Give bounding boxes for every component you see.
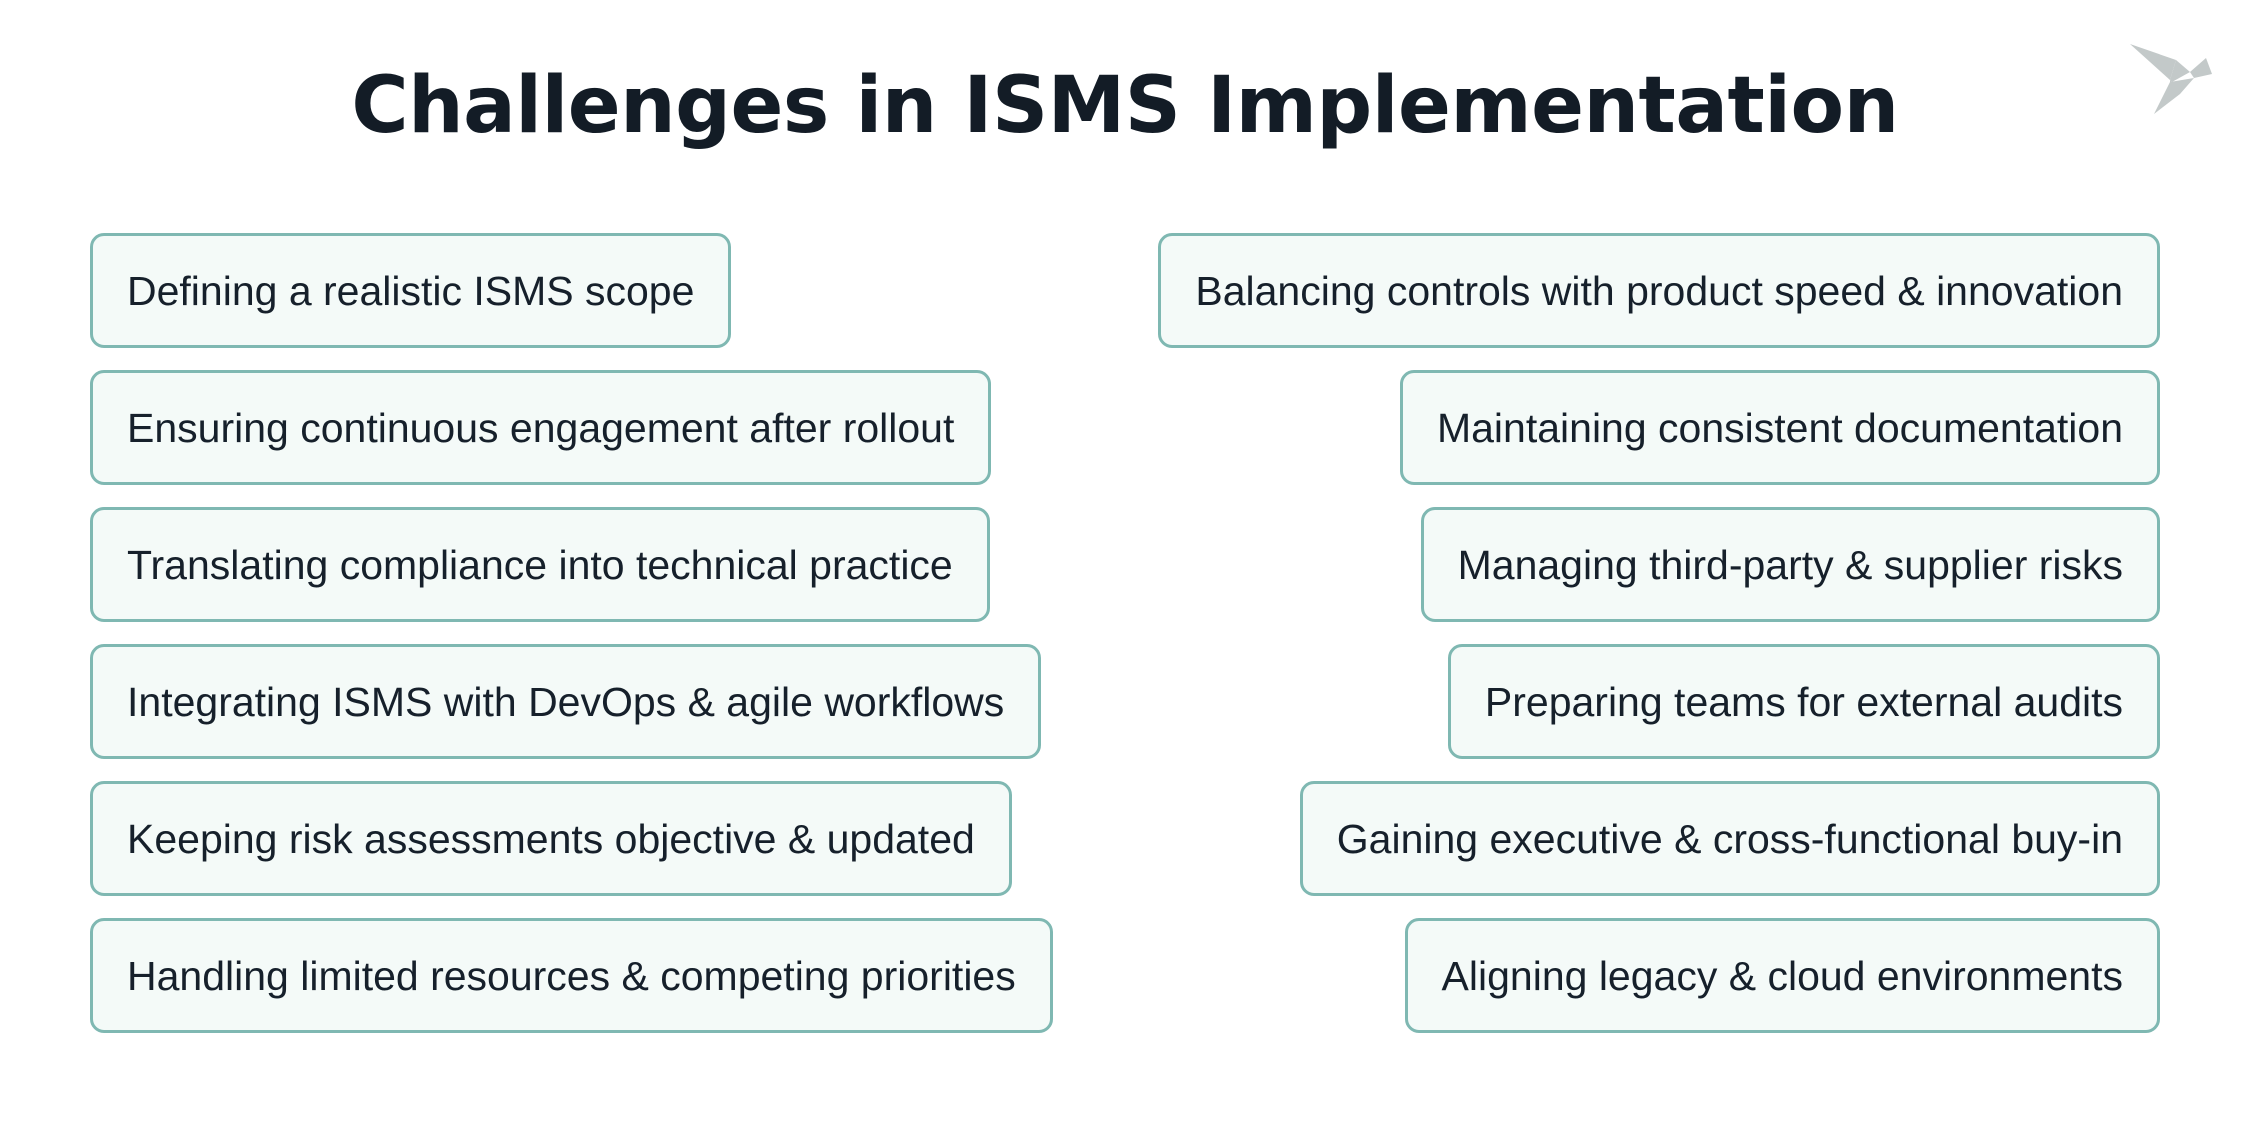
challenge-card[interactable]: Translating compliance into technical pr… <box>90 507 990 622</box>
challenge-card[interactable]: Ensuring continuous engagement after rol… <box>90 370 991 485</box>
challenge-card[interactable]: Preparing teams for external audits <box>1448 644 2160 759</box>
challenge-card[interactable]: Balancing controls with product speed & … <box>1158 233 2160 348</box>
challenge-card[interactable]: Managing third-party & supplier risks <box>1421 507 2160 622</box>
challenge-row: Handling limited resources & competing p… <box>90 918 2160 1033</box>
challenge-card-label: Gaining executive & cross-functional buy… <box>1337 815 2123 863</box>
challenge-row: Ensuring continuous engagement after rol… <box>90 370 2160 485</box>
challenge-card-label: Balancing controls with product speed & … <box>1195 267 2123 315</box>
challenge-row: Translating compliance into technical pr… <box>90 507 2160 622</box>
challenge-card-label: Aligning legacy & cloud environments <box>1442 952 2123 1000</box>
challenge-row: Keeping risk assessments objective & upd… <box>90 781 2160 896</box>
challenge-card-label: Translating compliance into technical pr… <box>127 541 953 589</box>
challenge-row: Defining a realistic ISMS scope Balancin… <box>90 233 2160 348</box>
challenge-card[interactable]: Handling limited resources & competing p… <box>90 918 1053 1033</box>
slide-canvas: Challenges in ISMS Implementation Defini… <box>0 0 2250 1143</box>
challenge-card-label: Handling limited resources & competing p… <box>127 952 1016 1000</box>
challenge-card[interactable]: Keeping risk assessments objective & upd… <box>90 781 1012 896</box>
challenge-card-label: Ensuring continuous engagement after rol… <box>127 404 954 452</box>
challenge-card[interactable]: Maintaining consistent documentation <box>1400 370 2160 485</box>
challenge-card-label: Preparing teams for external audits <box>1485 678 2123 726</box>
slide-title-container: Challenges in ISMS Implementation <box>0 58 2250 154</box>
challenge-card-label: Keeping risk assessments objective & upd… <box>127 815 975 863</box>
challenge-card-label: Integrating ISMS with DevOps & agile wor… <box>127 678 1004 726</box>
challenges-grid: Defining a realistic ISMS scope Balancin… <box>90 233 2160 1033</box>
challenge-card[interactable]: Integrating ISMS with DevOps & agile wor… <box>90 644 1041 759</box>
challenge-card-label: Maintaining consistent documentation <box>1437 404 2123 452</box>
challenge-row: Integrating ISMS with DevOps & agile wor… <box>90 644 2160 759</box>
challenge-card[interactable]: Defining a realistic ISMS scope <box>90 233 731 348</box>
page-title: Challenges in ISMS Implementation <box>351 58 1898 154</box>
challenge-card-label: Managing third-party & supplier risks <box>1458 541 2123 589</box>
challenge-card-label: Defining a realistic ISMS scope <box>127 267 694 315</box>
challenge-card[interactable]: Aligning legacy & cloud environments <box>1405 918 2160 1033</box>
challenge-card[interactable]: Gaining executive & cross-functional buy… <box>1300 781 2160 896</box>
